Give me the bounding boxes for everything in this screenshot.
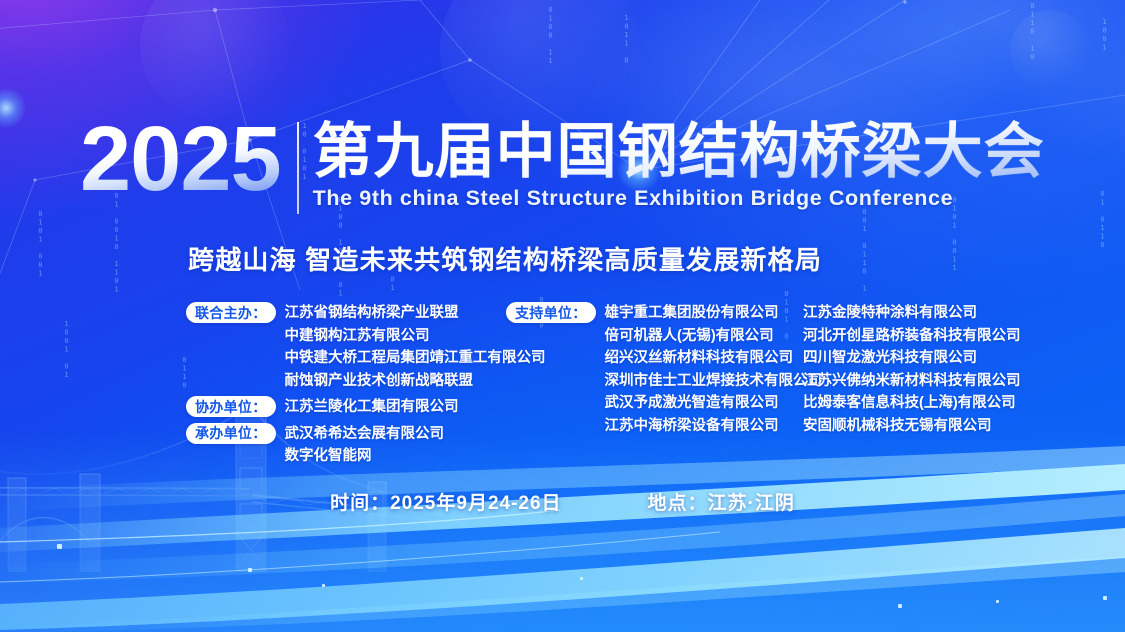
status-badge: 支持单位： — [506, 302, 596, 323]
status-badge: 协办单位： — [186, 396, 276, 417]
list-item: 江苏兰陵化工集团有限公司 — [285, 396, 459, 419]
list-item: 雄宇重工集团股份有限公司 — [605, 302, 823, 325]
organizer-column-3: 江苏金陵特种涂料有限公司 河北开创星路桥装备科技有限公司 四川智龙激光科技有限公… — [801, 302, 1031, 468]
event-details: 时间：2025年9月24-26日 地点：江苏·江阴 — [0, 488, 1125, 515]
list-item: 江苏金陵特种涂料有限公司 — [803, 302, 1021, 325]
list-item: 江苏兴佛纳米新材料科技有限公司 — [803, 370, 1021, 393]
event-location: 地点：江苏·江阴 — [648, 488, 795, 515]
list-item: 武汉予成激光智造有限公司 — [605, 392, 823, 415]
organizer-column-1: 联合主办： 江苏省钢结构桥梁产业联盟 中建钢构江苏有限公司 中铁建大桥工程局集团… — [186, 302, 506, 468]
organizers-section: 联合主办： 江苏省钢结构桥梁产业联盟 中建钢构江苏有限公司 中铁建大桥工程局集团… — [186, 302, 1031, 468]
list-item: 数字化智能网 — [285, 445, 445, 468]
year-label: 2025 — [80, 116, 287, 203]
organizer-column-2: 支持单位： 雄宇重工集团股份有限公司 倍可机器人(无锡)有限公司 绍兴汉丝新材料… — [506, 302, 801, 468]
list-item: 绍兴汉丝新材料科技有限公司 — [605, 347, 823, 370]
organizer-group: 联合主办： 江苏省钢结构桥梁产业联盟 中建钢构江苏有限公司 中铁建大桥工程局集团… — [186, 302, 506, 392]
title-divider — [297, 122, 299, 214]
slogan-text: 跨越山海 智造未来共筑钢结构桥梁高质量发展新格局 — [188, 240, 822, 277]
organizer-group: 协办单位： 江苏兰陵化工集团有限公司 — [186, 396, 506, 419]
list-item: 深圳市佳士工业焊接技术有限公司 — [605, 370, 823, 393]
list-item: 倍可机器人(无锡)有限公司 — [605, 325, 823, 348]
list-item: 武汉希希达会展有限公司 — [285, 423, 445, 446]
status-badge: 联合主办： — [186, 302, 276, 323]
event-time: 时间：2025年9月24-26日 — [330, 488, 561, 515]
list-item: 安固顺机械科技无锡有限公司 — [803, 415, 1021, 438]
list-item: 江苏中海桥梁设备有限公司 — [605, 415, 823, 438]
organizer-group: 江苏金陵特种涂料有限公司 河北开创星路桥装备科技有限公司 四川智龙激光科技有限公… — [801, 302, 1031, 437]
conference-banner: 0101 001 01 0010 1101 1001 01 0110 0100 … — [0, 0, 1125, 632]
banner-title-row: 2025 第九届中国钢结构桥梁大会 The 9th china Steel St… — [80, 116, 1045, 214]
page-title: 第九届中国钢结构桥梁大会 — [313, 120, 1045, 184]
organizer-group: 支持单位： 雄宇重工集团股份有限公司 倍可机器人(无锡)有限公司 绍兴汉丝新材料… — [506, 302, 801, 437]
list-item: 比姆泰客信息科技(上海)有限公司 — [803, 392, 1021, 415]
list-item: 河北开创星路桥装备科技有限公司 — [803, 325, 1021, 348]
organizer-group: 承办单位： 武汉希希达会展有限公司 数字化智能网 — [186, 423, 506, 468]
status-badge: 承办单位： — [186, 423, 276, 444]
list-item: 四川智龙激光科技有限公司 — [803, 347, 1021, 370]
page-subtitle-en: The 9th china Steel Structure Exhibition… — [313, 186, 1045, 211]
